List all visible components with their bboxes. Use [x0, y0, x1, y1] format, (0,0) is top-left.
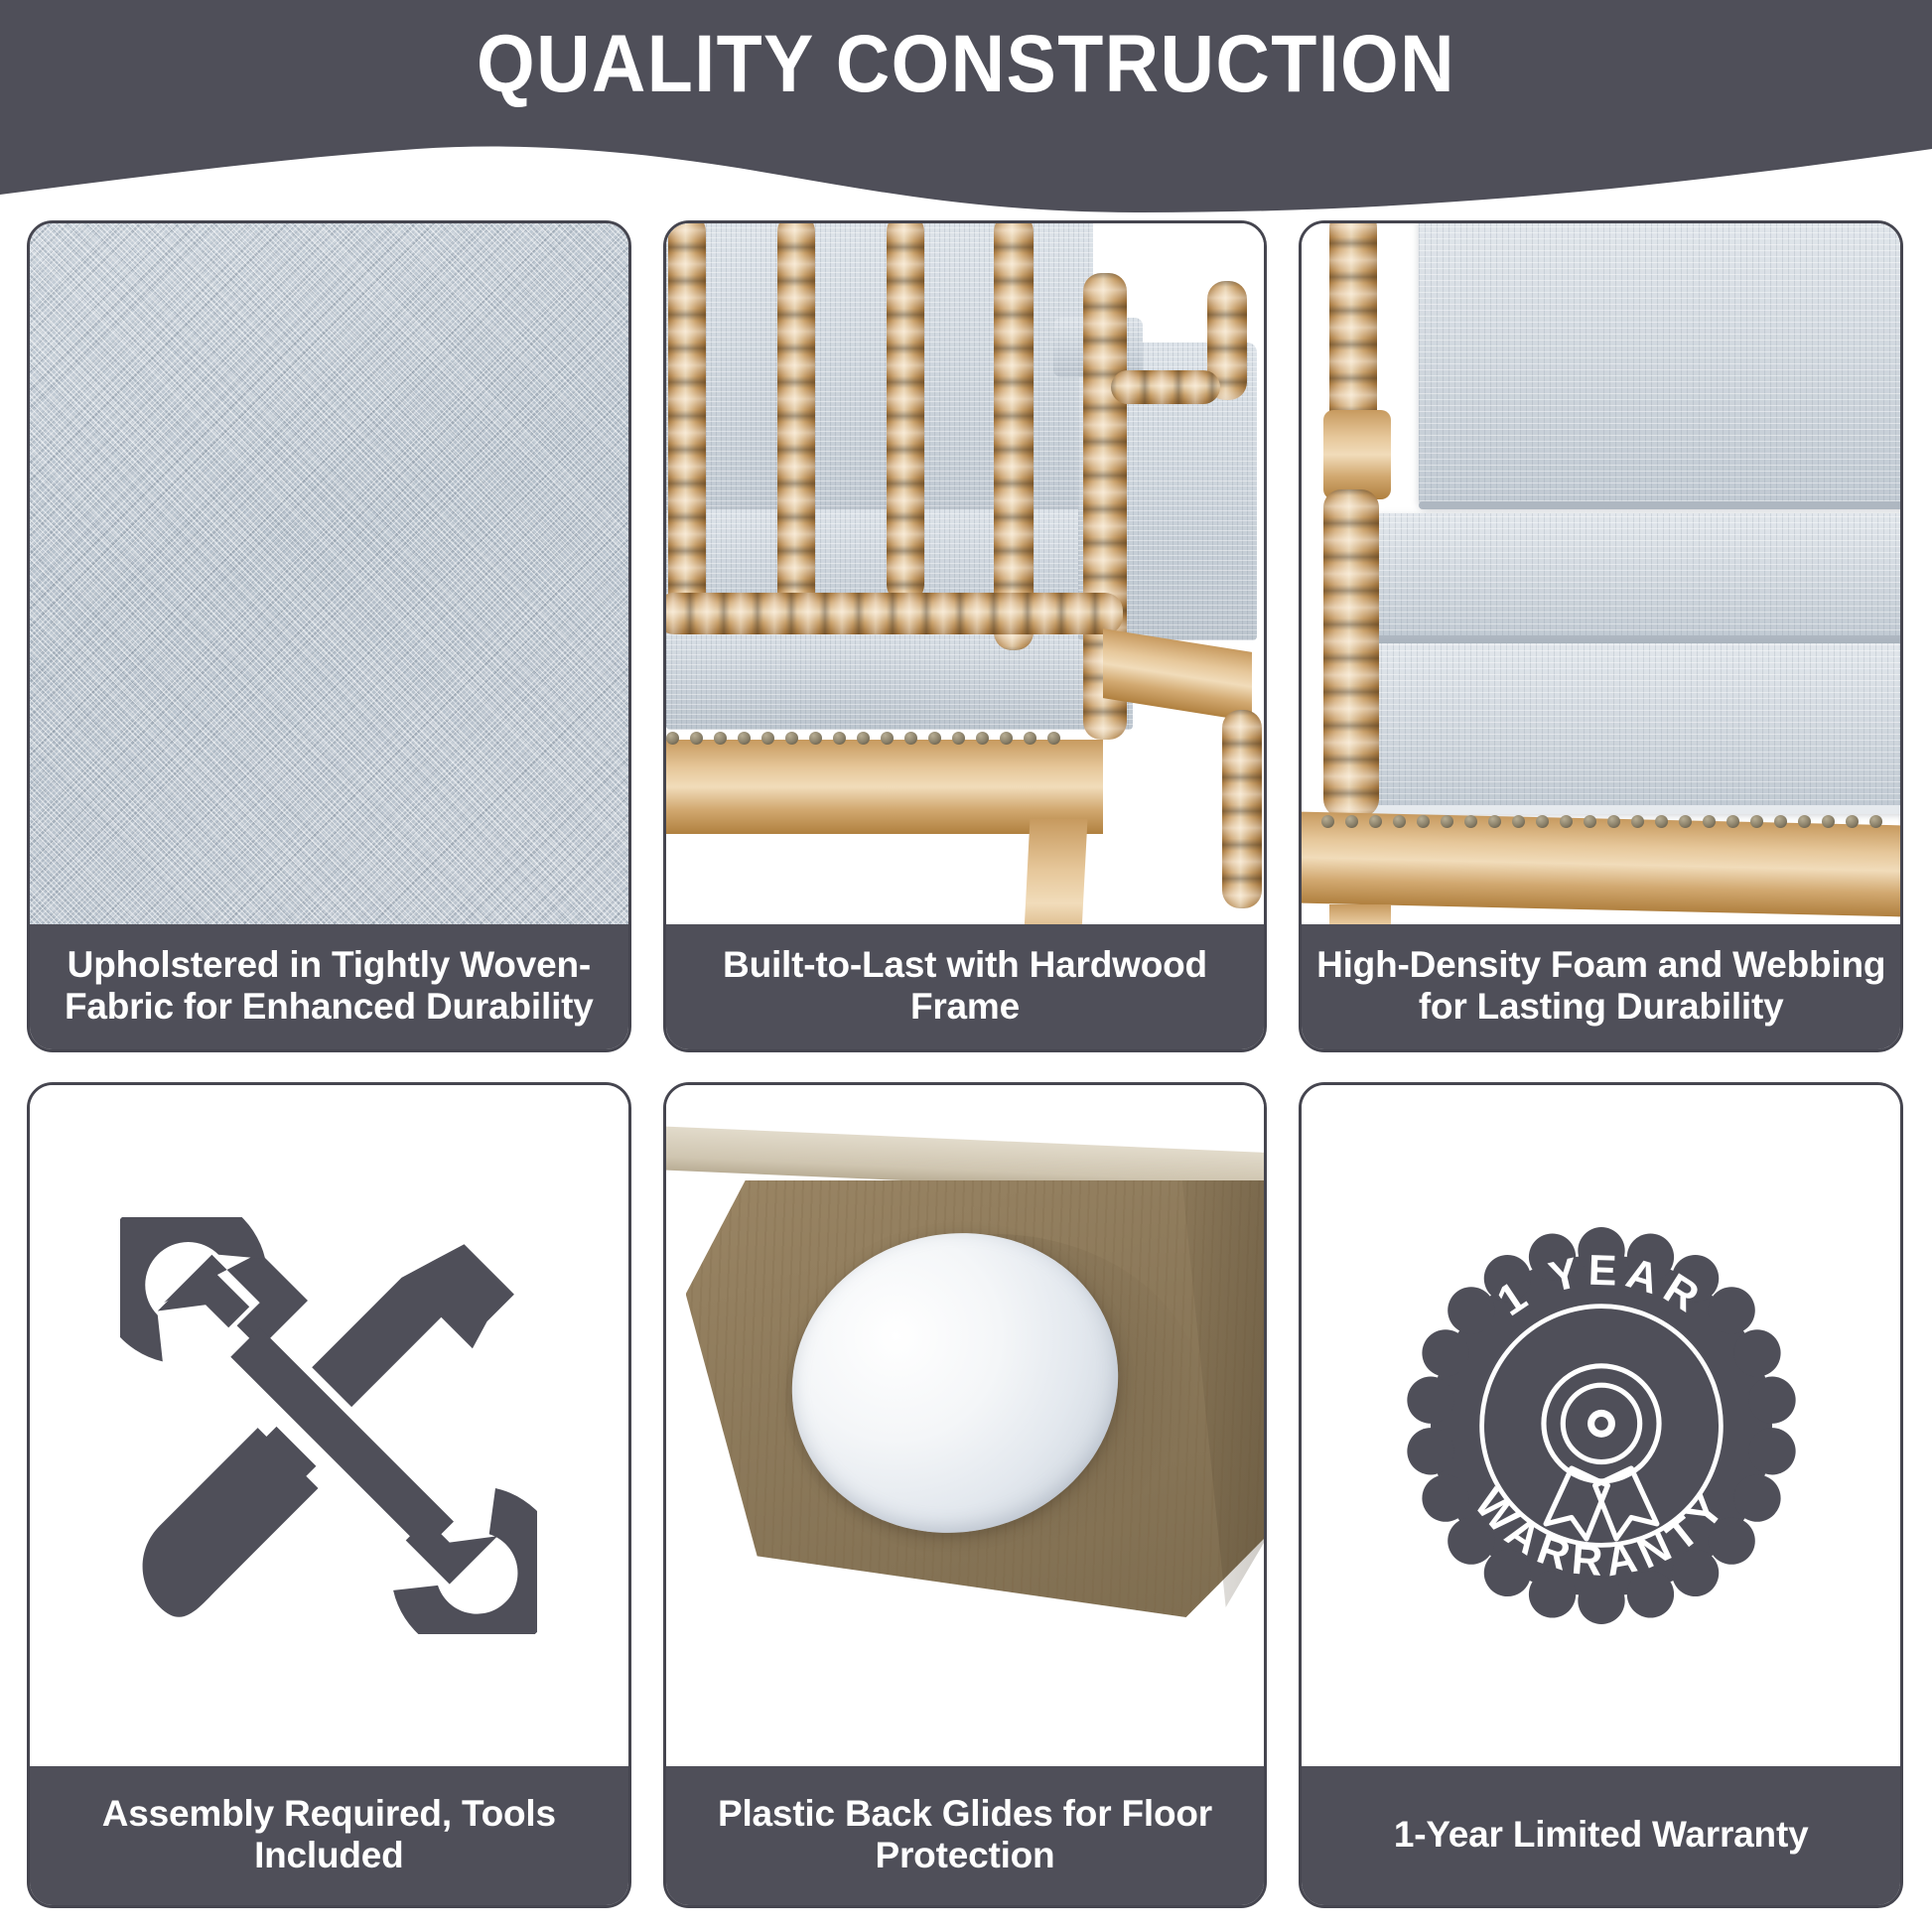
foam-webbing-photo — [1302, 223, 1900, 924]
nailhead — [833, 732, 846, 745]
nailhead — [1512, 815, 1525, 828]
nailhead — [1703, 815, 1716, 828]
nailhead — [1726, 815, 1739, 828]
caption-text: Upholstered in Tightly Woven-Fabric for … — [40, 944, 619, 1028]
wrench-screwdriver-icon — [120, 1217, 537, 1634]
seat-cushion-bottom — [1363, 643, 1900, 812]
nailhead — [928, 732, 941, 745]
lower-piping — [1363, 805, 1900, 814]
nailhead — [1679, 815, 1692, 828]
caption-text: 1-Year Limited Warranty — [1394, 1814, 1809, 1856]
nailhead — [1798, 815, 1811, 828]
caption-assembly-tools: Assembly Required, Tools Included — [30, 1766, 628, 1905]
caption-text: High-Density Foam and Webbing for Lastin… — [1311, 944, 1890, 1028]
nailhead — [1488, 815, 1501, 828]
nailhead — [881, 732, 894, 745]
spindle-back-3 — [887, 223, 924, 603]
feature-card-foam-webbing: High-Density Foam and Webbing for Lastin… — [1299, 220, 1903, 1052]
nailhead — [785, 732, 798, 745]
spindle-back-2 — [777, 223, 815, 611]
caption-upholstery: Upholstered in Tightly Woven-Fabric for … — [30, 924, 628, 1049]
feature-card-hardwood-frame: Built-to-Last with Hardwood Frame — [663, 220, 1268, 1052]
nailhead — [809, 732, 822, 745]
nailhead — [1560, 815, 1573, 828]
nailhead-trim-base — [1321, 815, 1900, 828]
caption-text: Built-to-Last with Hardwood Frame — [676, 944, 1255, 1028]
hardwood-frame-photo — [666, 223, 1265, 924]
nailhead — [1345, 815, 1358, 828]
nailhead — [1584, 815, 1596, 828]
assembly-tools-icon-area — [30, 1085, 628, 1766]
spindle-arm-rail — [666, 593, 1123, 634]
nailhead — [952, 732, 965, 745]
nailhead — [1369, 815, 1382, 828]
nailhead — [1750, 815, 1763, 828]
nailhead — [666, 732, 679, 745]
chair-scene — [666, 223, 1265, 924]
nailhead — [857, 732, 870, 745]
chair-front-leg — [1021, 819, 1087, 924]
nailhead — [1047, 732, 1060, 745]
back-cushion — [1419, 223, 1900, 507]
chair-rear-leg-spindle — [1222, 710, 1262, 908]
warranty-badge-icon: 1 YEAR WARRANTY — [1388, 1212, 1815, 1639]
nailhead — [738, 732, 751, 745]
nailhead — [1822, 815, 1835, 828]
nailhead — [1464, 815, 1477, 828]
caption-text: Assembly Required, Tools Included — [40, 1793, 619, 1876]
feature-card-warranty: 1 YEAR WARRANTY 1-Year Limited Warranty — [1299, 1082, 1903, 1908]
chair-foot — [1329, 904, 1391, 924]
caption-text: Plastic Back Glides for Floor Protection — [676, 1793, 1255, 1876]
nailhead — [1417, 815, 1430, 828]
upholstery-photo — [30, 223, 628, 924]
nailhead — [1846, 815, 1859, 828]
woven-fabric-swatch — [30, 223, 628, 924]
nailhead — [1655, 815, 1668, 828]
nailhead — [1774, 815, 1787, 828]
nailhead — [976, 732, 989, 745]
back-glide-photo — [666, 1085, 1265, 1766]
nailhead — [1393, 815, 1406, 828]
page-header: QUALITY CONSTRUCTION — [0, 0, 1932, 228]
nailhead — [1869, 815, 1882, 828]
back-cushion-piping — [1419, 501, 1900, 509]
nailhead — [1607, 815, 1620, 828]
nailhead — [1024, 732, 1036, 745]
spindle-back-1 — [668, 223, 706, 630]
spindle-post-lower — [1323, 489, 1379, 817]
nailhead — [1441, 815, 1453, 828]
nailhead — [1000, 732, 1013, 745]
seat-cushion-top — [1371, 513, 1900, 642]
nailhead — [761, 732, 774, 745]
feature-card-assembly-tools: Assembly Required, Tools Included — [27, 1082, 631, 1908]
caption-warranty: 1-Year Limited Warranty — [1302, 1766, 1900, 1905]
warranty-badge-area: 1 YEAR WARRANTY — [1302, 1085, 1900, 1766]
caption-foam-webbing: High-Density Foam and Webbing for Lastin… — [1302, 924, 1900, 1049]
feature-card-back-glides: Plastic Back Glides for Floor Protection — [663, 1082, 1268, 1908]
feature-card-upholstery: Upholstered in Tightly Woven-Fabric for … — [27, 220, 631, 1052]
cushion-scene — [1302, 223, 1900, 924]
spindle-back-4 — [994, 223, 1034, 650]
caption-back-glides: Plastic Back Glides for Floor Protection — [666, 1766, 1265, 1905]
nailhead — [1321, 815, 1334, 828]
spindle-arm-rail-right — [1111, 370, 1220, 404]
nailhead-trim-front — [666, 732, 1103, 745]
seat-cushion-piping — [1371, 635, 1900, 643]
nailhead — [1631, 815, 1644, 828]
glide-scene — [666, 1085, 1265, 1766]
nailhead — [1536, 815, 1549, 828]
nailhead — [714, 732, 727, 745]
feature-grid: Upholstered in Tightly Woven-Fabric for … — [27, 220, 1903, 1908]
page-title: QUALITY CONSTRUCTION — [77, 22, 1855, 107]
nailhead — [690, 732, 703, 745]
arm-block — [1323, 410, 1391, 499]
nailhead — [904, 732, 917, 745]
caption-hardwood-frame: Built-to-Last with Hardwood Frame — [666, 924, 1265, 1049]
